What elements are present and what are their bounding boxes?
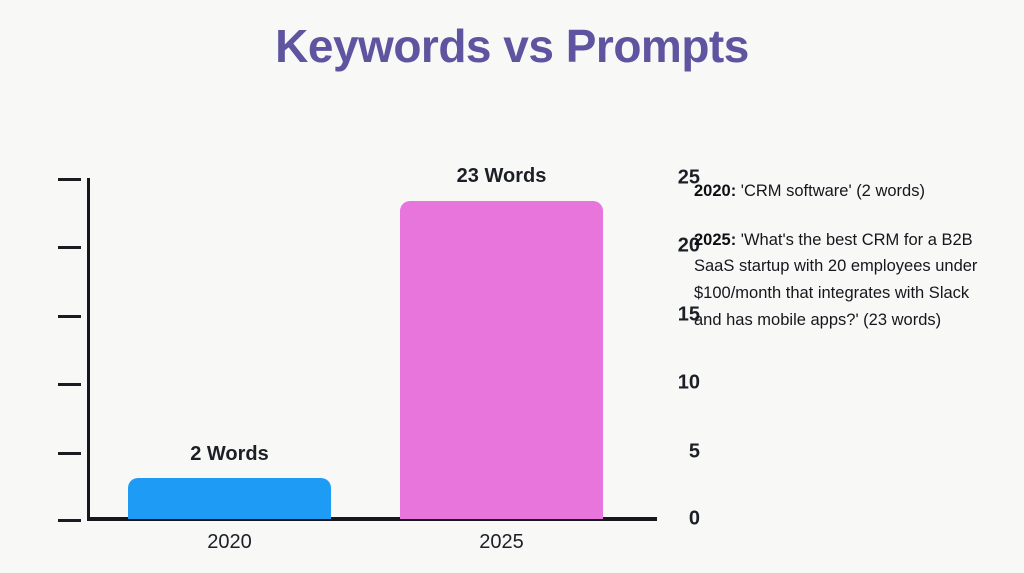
annotation-2020-text: 'CRM software' (2 words) <box>736 182 925 200</box>
x-axis-label-2025: 2025 <box>400 531 603 554</box>
bar-value-label-2020: 2 Words <box>128 443 331 466</box>
annotation-2025-text: 'What's the best CRM for a B2B SaaS star… <box>694 231 977 329</box>
annotation-2020: 2020: 'CRM software' (2 words) <box>694 178 994 205</box>
y-axis-line <box>87 178 90 521</box>
y-tick-mark-25 <box>58 178 81 181</box>
y-tick-mark-20 <box>58 246 81 249</box>
y-tick-label-0: 0 <box>654 508 700 531</box>
annotation-panel: 2020: 'CRM software' (2 words) 2025: 'Wh… <box>694 178 994 334</box>
bar-2020[interactable] <box>128 478 331 519</box>
y-tick-mark-10 <box>58 383 81 386</box>
y-tick-label-5: 5 <box>654 441 700 464</box>
slide-canvas: Keywords vs Prompts 25 20 15 10 5 0 2 Wo… <box>0 0 1024 573</box>
y-tick-mark-5 <box>58 452 81 455</box>
annotation-2025: 2025: 'What's the best CRM for a B2B Saa… <box>694 227 994 334</box>
annotation-2025-lead: 2025: <box>694 231 736 249</box>
y-tick-mark-0 <box>58 519 81 522</box>
x-axis-label-2020: 2020 <box>128 531 331 554</box>
y-tick-mark-15 <box>58 315 81 318</box>
annotation-2020-lead: 2020: <box>694 182 736 200</box>
bar-2025[interactable] <box>400 201 603 519</box>
bar-chart: 25 20 15 10 5 0 2 Words 23 Words 2020 20… <box>0 0 700 573</box>
y-tick-label-10: 10 <box>654 372 700 395</box>
bar-value-label-2025: 23 Words <box>400 165 603 188</box>
